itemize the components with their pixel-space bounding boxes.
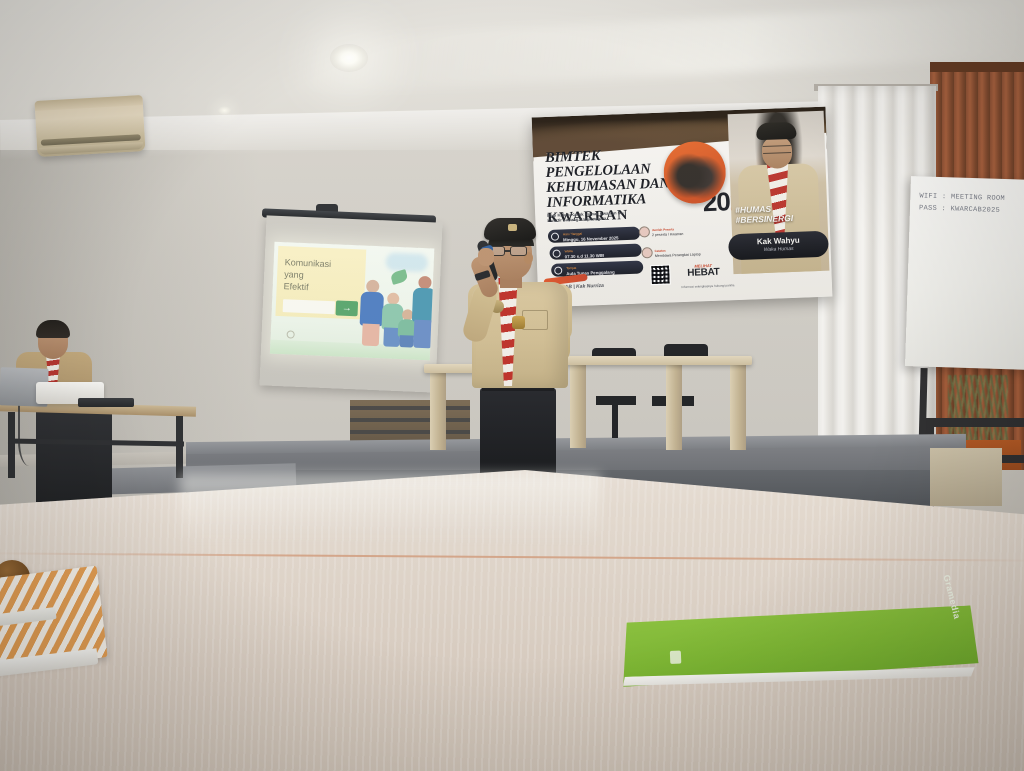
stage-table-2 — [562, 356, 752, 365]
stage-table-1-leg-left — [430, 372, 446, 450]
side-desk-leg-left — [8, 412, 15, 478]
info-value-1: 2 peserta / Kwarran — [652, 232, 684, 237]
ceiling-light-secondary-icon — [218, 106, 231, 115]
whiteboard-line-2: PASS : KWARCAB2025 — [919, 202, 1024, 217]
booklet-mark-icon — [670, 651, 681, 664]
banner-logo-bottom: HEBAT — [677, 267, 729, 279]
slide-input-field[interactable] — [283, 299, 335, 314]
banner-hashtag: #HUMAS #BERSINERGI — [735, 203, 806, 225]
presentation-slide: Komunikasi yang Efektif → — [270, 242, 435, 361]
seminar-room-photo: WIFI : MEETING ROOM PASS : KWARCAB2025 B… — [0, 0, 1024, 771]
info-value-2: Membawa Perangkat Laptop — [655, 252, 701, 258]
beret-badge-icon — [508, 224, 517, 231]
slide-person-4 — [410, 276, 434, 349]
table-light-reflection — [180, 474, 600, 544]
presenter-beret — [484, 218, 536, 240]
banner-info-2: Catatan Membawa Perangkat Laptop — [655, 247, 711, 259]
presenter-trousers — [480, 388, 556, 480]
portrait-glasses-icon — [763, 145, 791, 154]
slide-next-arrow-icon[interactable]: → — [336, 300, 359, 316]
slide-circle-graphic — [287, 330, 295, 338]
spiral-notebook[interactable] — [0, 565, 117, 697]
stage-chair-1-post — [612, 402, 618, 438]
presenter-uniform-badge — [512, 316, 525, 329]
slat-wall-trim — [930, 62, 1024, 72]
operator-hair — [36, 320, 70, 338]
side-lectern — [930, 448, 1002, 506]
banner-info-1: Jumlah Peserta 2 peserta / Kwarran — [652, 226, 708, 238]
banner-nameplate: Kak Wahyu Waka Humas — [728, 231, 829, 261]
ceiling-light-icon — [330, 44, 368, 72]
black-equipment-pad — [78, 398, 134, 407]
whiteboard[interactable]: WIFI : MEETING ROOM PASS : KWARCAB2025 — [905, 176, 1024, 370]
slide-cloud-graphic — [385, 252, 428, 272]
presenter-left-hand — [478, 248, 494, 266]
side-desk-leg-right — [176, 416, 183, 478]
presenter-shirt-pocket — [522, 310, 548, 330]
presenter-person — [466, 218, 578, 480]
banner-logo: MELIHAT HEBAT — [677, 262, 730, 279]
projection-screen: Komunikasi yang Efektif → — [260, 215, 443, 392]
slide-title: Komunikasi yang Efektif — [283, 256, 356, 295]
slide-leaf-graphic — [390, 269, 409, 285]
presenter-glasses-icon — [488, 246, 530, 256]
operator-legs — [36, 410, 112, 502]
air-conditioner-unit — [35, 95, 146, 157]
desk-cable — [18, 404, 46, 466]
stage-table-2-leg-right — [730, 364, 746, 450]
stage-table-2-leg-mid — [666, 364, 682, 450]
green-booklet[interactable]: Gramedia — [621, 605, 980, 701]
